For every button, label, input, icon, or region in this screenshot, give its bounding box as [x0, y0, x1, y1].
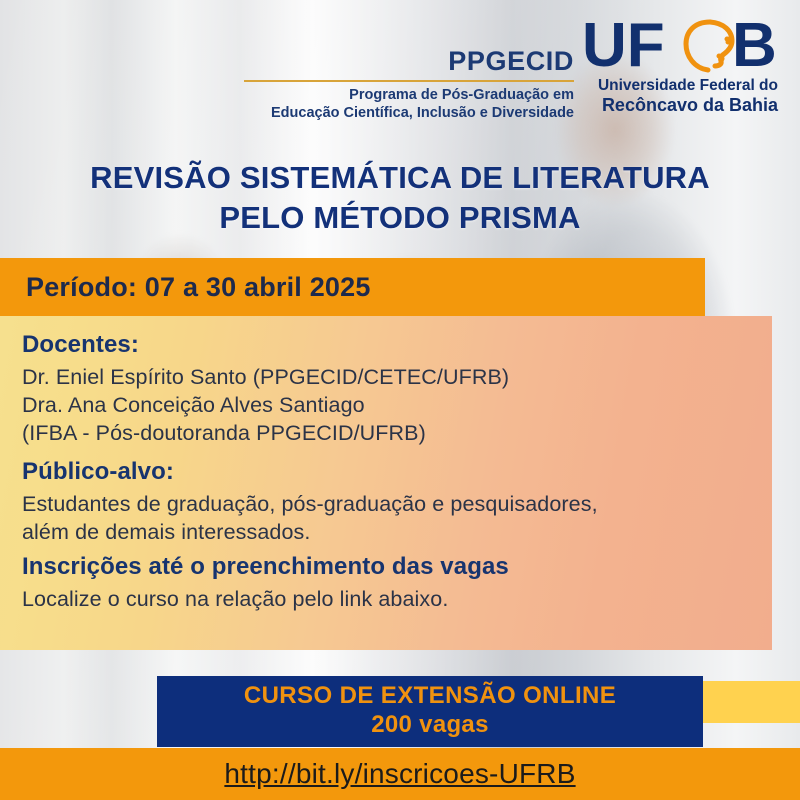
vagas-label: 200 vagas — [371, 710, 488, 739]
ufrb-logo-svg: UF B — [582, 14, 778, 76]
ufrb-logo-uf-text: UF — [582, 14, 665, 76]
ppgecid-divider — [244, 80, 574, 82]
page-title-line1: REVISÃO SISTEMÁTICA DE LITERATURA — [0, 158, 800, 198]
period-label: Período: 07 a 30 abril 2025 — [26, 272, 371, 303]
content-panel: Docentes: Dr. Eniel Espírito Santo (PPGE… — [0, 316, 772, 650]
face-profile-icon — [686, 22, 732, 70]
inscricoes-heading: Inscrições até o preenchimento das vagas — [22, 552, 758, 581]
ppgecid-acronym: PPGECID — [244, 48, 574, 75]
registration-link[interactable]: http://bit.ly/inscricoes-UFRB — [224, 758, 575, 790]
ufrb-logo-b-text: B — [732, 14, 777, 76]
ufrb-subtitle-line2: Recôncavo da Bahia — [578, 95, 778, 116]
publico-alvo-line1: Estudantes de graduação, pós-graduação e… — [22, 491, 758, 519]
ufrb-subtitle: Universidade Federal do Recôncavo da Bah… — [578, 77, 778, 116]
poster-header: PPGECID Programa de Pós-Graduação em Edu… — [0, 0, 800, 146]
ufrb-subtitle-line1: Universidade Federal do — [578, 77, 778, 95]
url-bar: http://bit.ly/inscricoes-UFRB — [0, 748, 800, 800]
docente-1: Dr. Eniel Espírito Santo (PPGECID/CETEC/… — [22, 364, 758, 392]
docente-2: Dra. Ana Conceição Alves Santiago — [22, 392, 758, 420]
poster-root: PPGECID Programa de Pós-Graduação em Edu… — [0, 0, 800, 800]
ufrb-logo-block: UF B Universidade Federal do Recôncavo d… — [578, 14, 778, 116]
publico-alvo-heading: Público-alvo: — [22, 457, 758, 486]
publico-alvo-line2: além de demais interessados. — [22, 519, 758, 547]
ppgecid-logo-block: PPGECID Programa de Pós-Graduação em Edu… — [244, 48, 574, 123]
course-type-label: CURSO DE EXTENSÃO ONLINE — [244, 683, 616, 710]
spacer — [22, 448, 758, 457]
docente-2-affiliation: (IFBA - Pós-doutoranda PPGECID/UFRB) — [22, 420, 758, 448]
docentes-heading: Docentes: — [22, 330, 758, 359]
period-banner: Período: 07 a 30 abril 2025 — [0, 258, 705, 316]
page-title-line2: PELO MÉTODO PRISMA — [0, 198, 800, 238]
page-title: REVISÃO SISTEMÁTICA DE LITERATURA PELO M… — [0, 158, 800, 239]
content-inner: Docentes: Dr. Eniel Espírito Santo (PPGE… — [22, 330, 758, 614]
ufrb-wordmark: UF B — [578, 14, 778, 76]
ppgecid-subtitle-line2: Educação Científica, Inclusão e Diversid… — [244, 104, 574, 122]
inscricoes-note: Localize o curso na relação pelo link ab… — [22, 586, 758, 614]
course-banner: CURSO DE EXTENSÃO ONLINE 200 vagas — [157, 676, 703, 747]
ppgecid-subtitle-line1: Programa de Pós-Graduação em — [244, 86, 574, 104]
